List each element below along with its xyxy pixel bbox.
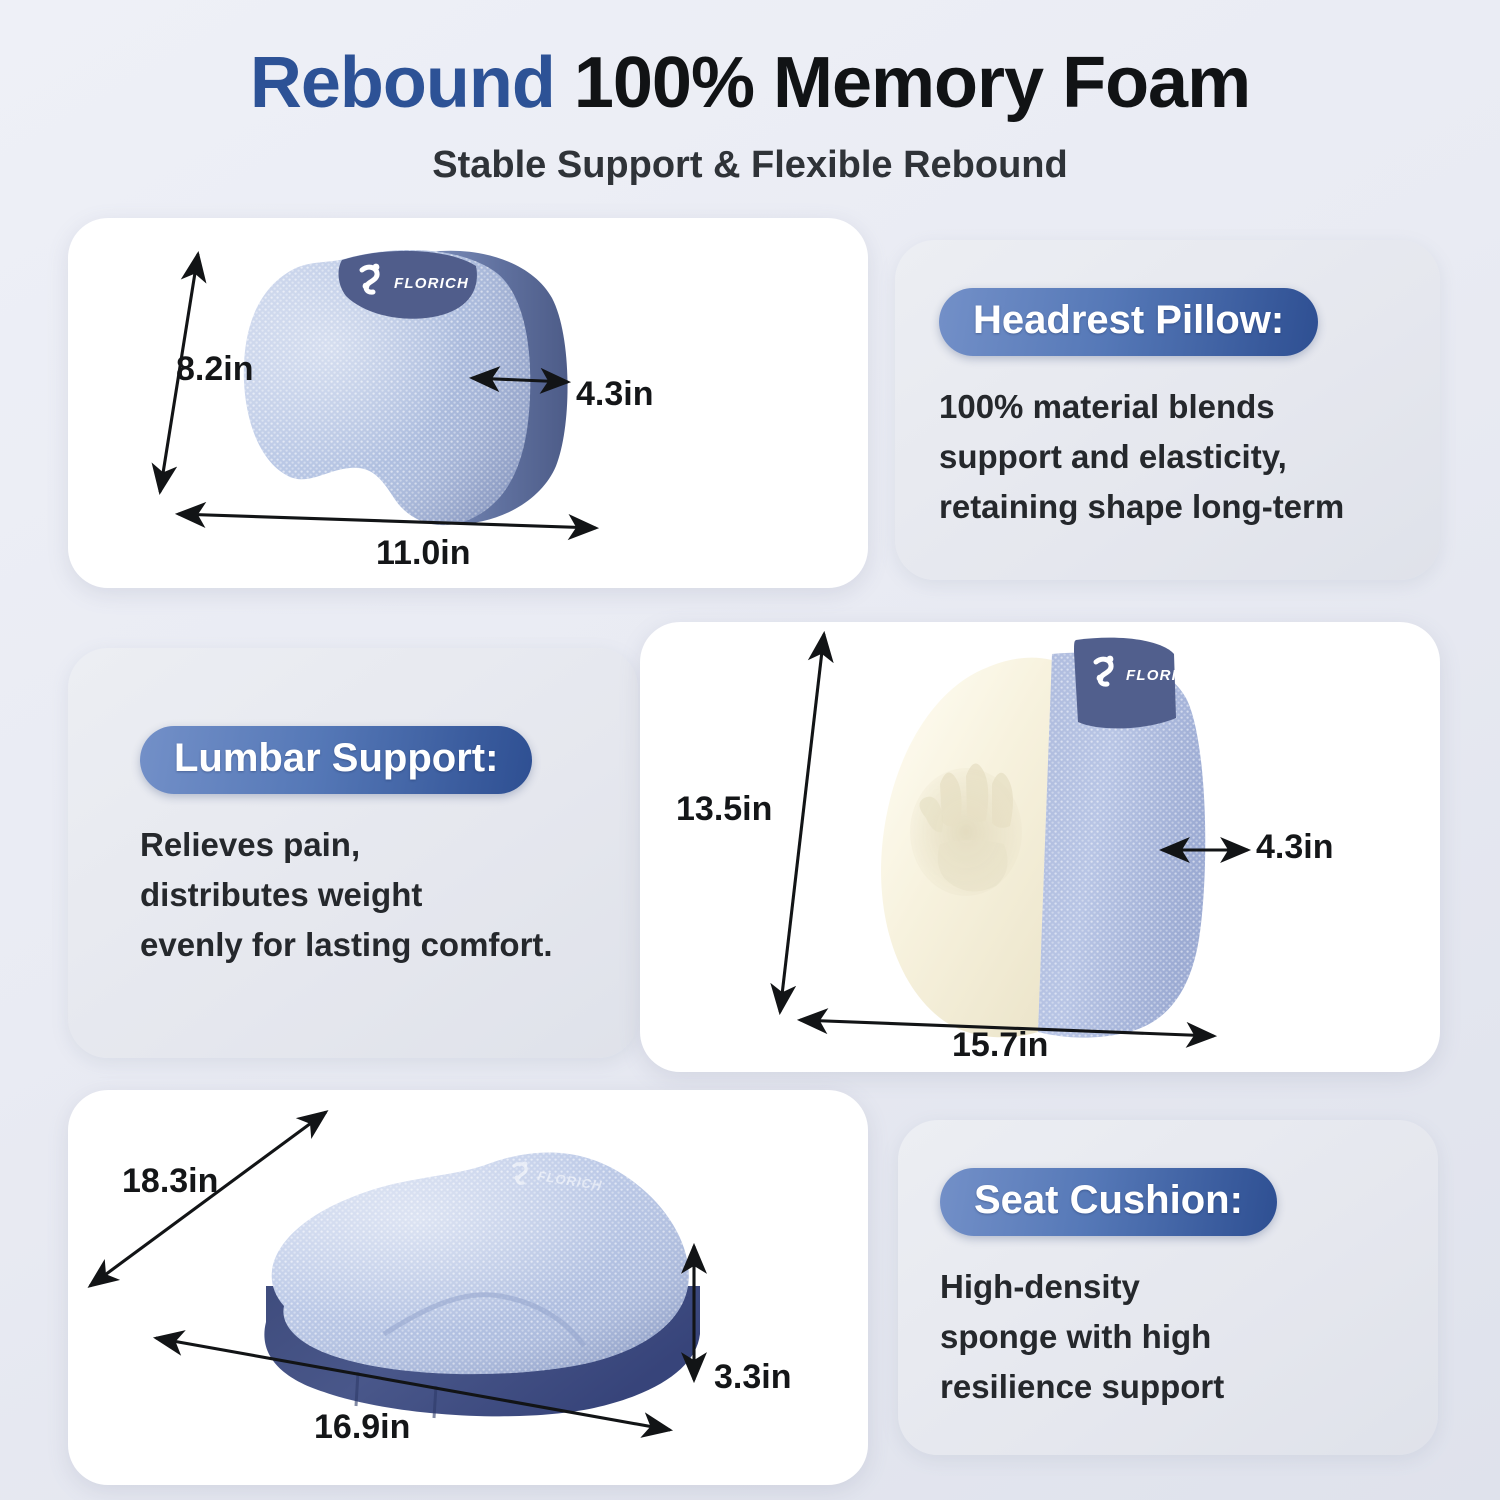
- dimension-label-headrest-depth: 4.3in: [576, 375, 653, 414]
- dimension-label-seat-depth: 18.3in: [122, 1162, 218, 1201]
- seat-description: High-density sponge with high resilience…: [940, 1262, 1438, 1412]
- page-subtitle: Stable Support & Flexible Rebound: [0, 144, 1500, 187]
- header: Rebound 100% Memory Foam Stable Support …: [0, 0, 1500, 187]
- headrest-text-card: Headrest Pillow: 100% material blends su…: [895, 240, 1440, 580]
- lumbar-description-line-1: Relieves pain,: [140, 820, 638, 870]
- seat-description-line-3: resilience support: [940, 1362, 1438, 1412]
- headrest-image-card: FLORICH 8.2in 4.3in 11.0in: [68, 218, 868, 588]
- headrest-description: 100% material blends support and elastic…: [939, 382, 1440, 532]
- lumbar-description-line-2: distributes weight: [140, 870, 638, 920]
- dimension-label-lumbar-depth: 4.3in: [1256, 828, 1333, 867]
- seat-dimension-arrows: [68, 1090, 868, 1485]
- title-accent-word: Rebound: [250, 43, 555, 123]
- seat-description-line-1: High-density: [940, 1262, 1438, 1312]
- dimension-label-lumbar-width: 15.7in: [952, 1026, 1048, 1065]
- seat-image-card: FLORICH 18.3in 3.3in 16.9in: [68, 1090, 868, 1485]
- seat-description-line-2: sponge with high: [940, 1312, 1438, 1362]
- title-plain-words: 100% Memory Foam: [574, 43, 1250, 123]
- headrest-dimension-arrows: [68, 218, 868, 588]
- lumbar-description: Relieves pain, distributes weight evenly…: [140, 820, 638, 970]
- infographic-canvas: Rebound 100% Memory Foam Stable Support …: [0, 0, 1500, 1500]
- badge-headrest-pillow: Headrest Pillow:: [939, 288, 1318, 356]
- headrest-description-line-1: 100% material blends: [939, 382, 1440, 432]
- headrest-description-line-3: retaining shape long-term: [939, 482, 1440, 532]
- badge-lumbar-support: Lumbar Support:: [140, 726, 532, 794]
- lumbar-image-card: FLORICH 13.5in 4.3in 15.7in: [640, 622, 1440, 1072]
- badge-seat-cushion: Seat Cushion:: [940, 1168, 1277, 1236]
- lumbar-text-card: Lumbar Support: Relieves pain, distribut…: [68, 648, 638, 1058]
- page-title: Rebound 100% Memory Foam: [0, 46, 1500, 122]
- seat-text-card: Seat Cushion: High-density sponge with h…: [898, 1120, 1438, 1455]
- dimension-label-lumbar-height: 13.5in: [676, 790, 772, 829]
- dimension-label-headrest-height: 8.2in: [176, 350, 253, 389]
- dimension-label-seat-width: 16.9in: [314, 1408, 410, 1447]
- dimension-label-headrest-width: 11.0in: [376, 534, 471, 573]
- headrest-description-line-2: support and elasticity,: [939, 432, 1440, 482]
- lumbar-description-line-3: evenly for lasting comfort.: [140, 920, 638, 970]
- dimension-label-seat-thickness: 3.3in: [714, 1358, 791, 1397]
